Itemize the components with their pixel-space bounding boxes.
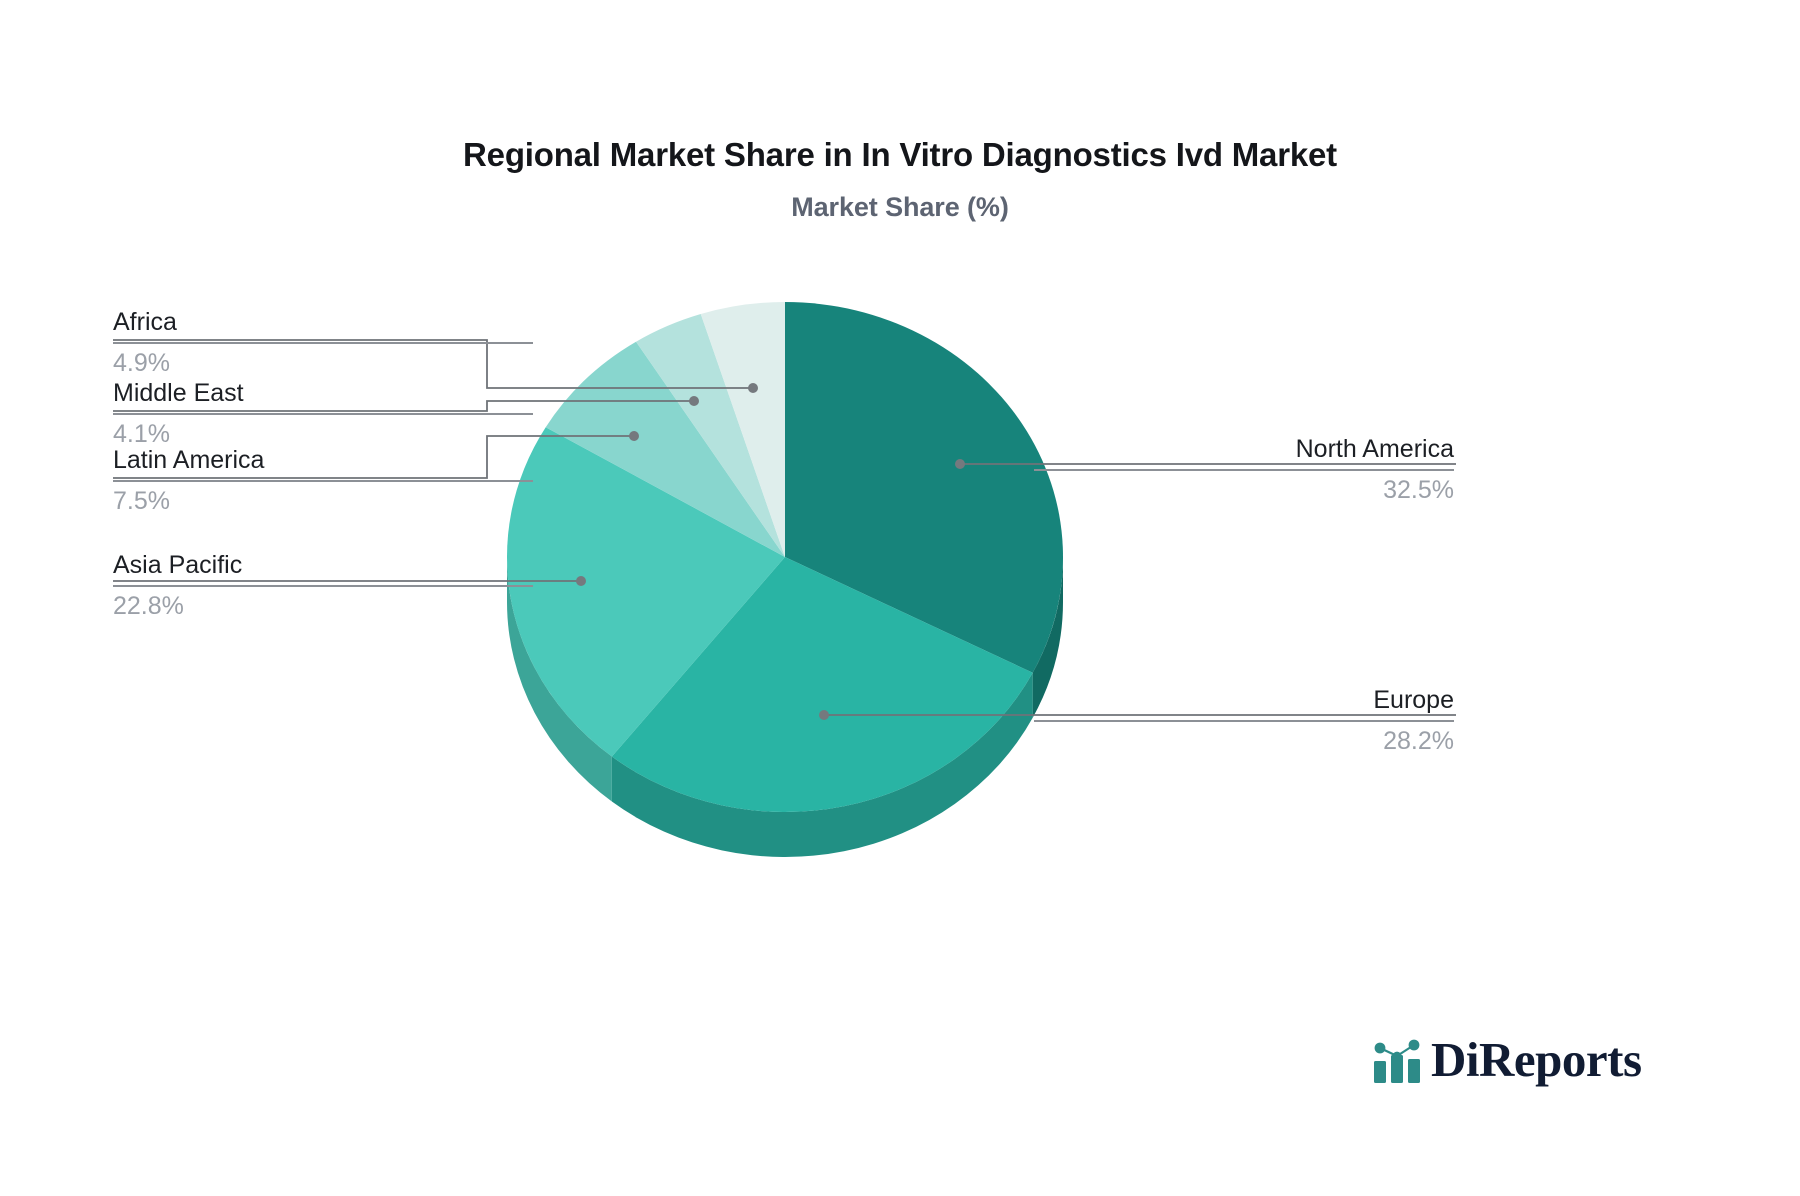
callout-label-north-america: North America xyxy=(1034,432,1454,466)
callout-value-north-america: 32.5% xyxy=(1034,473,1454,507)
callout-europe: Europe 28.2% xyxy=(1034,683,1454,758)
callout-rule-north-america xyxy=(1034,469,1454,471)
callout-latin-america: Latin America 7.5% xyxy=(113,443,533,518)
chart-canvas: Regional Market Share in In Vitro Diagno… xyxy=(0,0,1800,1196)
bar-chart-icon xyxy=(1371,1037,1423,1085)
callout-label-asia-pacific: Asia Pacific xyxy=(113,548,533,582)
callout-value-asia-pacific: 22.8% xyxy=(113,589,533,623)
callout-label-africa: Africa xyxy=(113,305,533,339)
callout-label-europe: Europe xyxy=(1034,683,1454,717)
callout-label-middle-east: Middle East xyxy=(113,376,533,410)
pie-slices xyxy=(507,302,1063,812)
callout-value-europe: 28.2% xyxy=(1034,724,1454,758)
leader-dot xyxy=(819,710,829,720)
callout-rule-latin-america xyxy=(113,480,533,482)
logo-wordmark: DiReports xyxy=(1431,1035,1642,1085)
leader-dot xyxy=(689,396,699,406)
callout-label-latin-america: Latin America xyxy=(113,443,533,477)
leader-dot xyxy=(576,576,586,586)
callout-rule-africa xyxy=(113,342,533,344)
leader-dot xyxy=(955,459,965,469)
callout-north-america: North America 32.5% xyxy=(1034,432,1454,507)
callout-rule-europe xyxy=(1034,720,1454,722)
brand-logo: DiReports xyxy=(1371,1035,1642,1085)
leader-dot xyxy=(748,383,758,393)
callout-rule-middle-east xyxy=(113,413,533,415)
callout-value-africa: 4.9% xyxy=(113,346,533,380)
leader-dot xyxy=(629,431,639,441)
callout-africa: Africa 4.9% xyxy=(113,305,533,380)
callout-rule-asia-pacific xyxy=(113,585,533,587)
callout-middle-east: Middle East 4.1% xyxy=(113,376,533,451)
callout-asia-pacific: Asia Pacific 22.8% xyxy=(113,548,533,623)
callout-value-latin-america: 7.5% xyxy=(113,484,533,518)
